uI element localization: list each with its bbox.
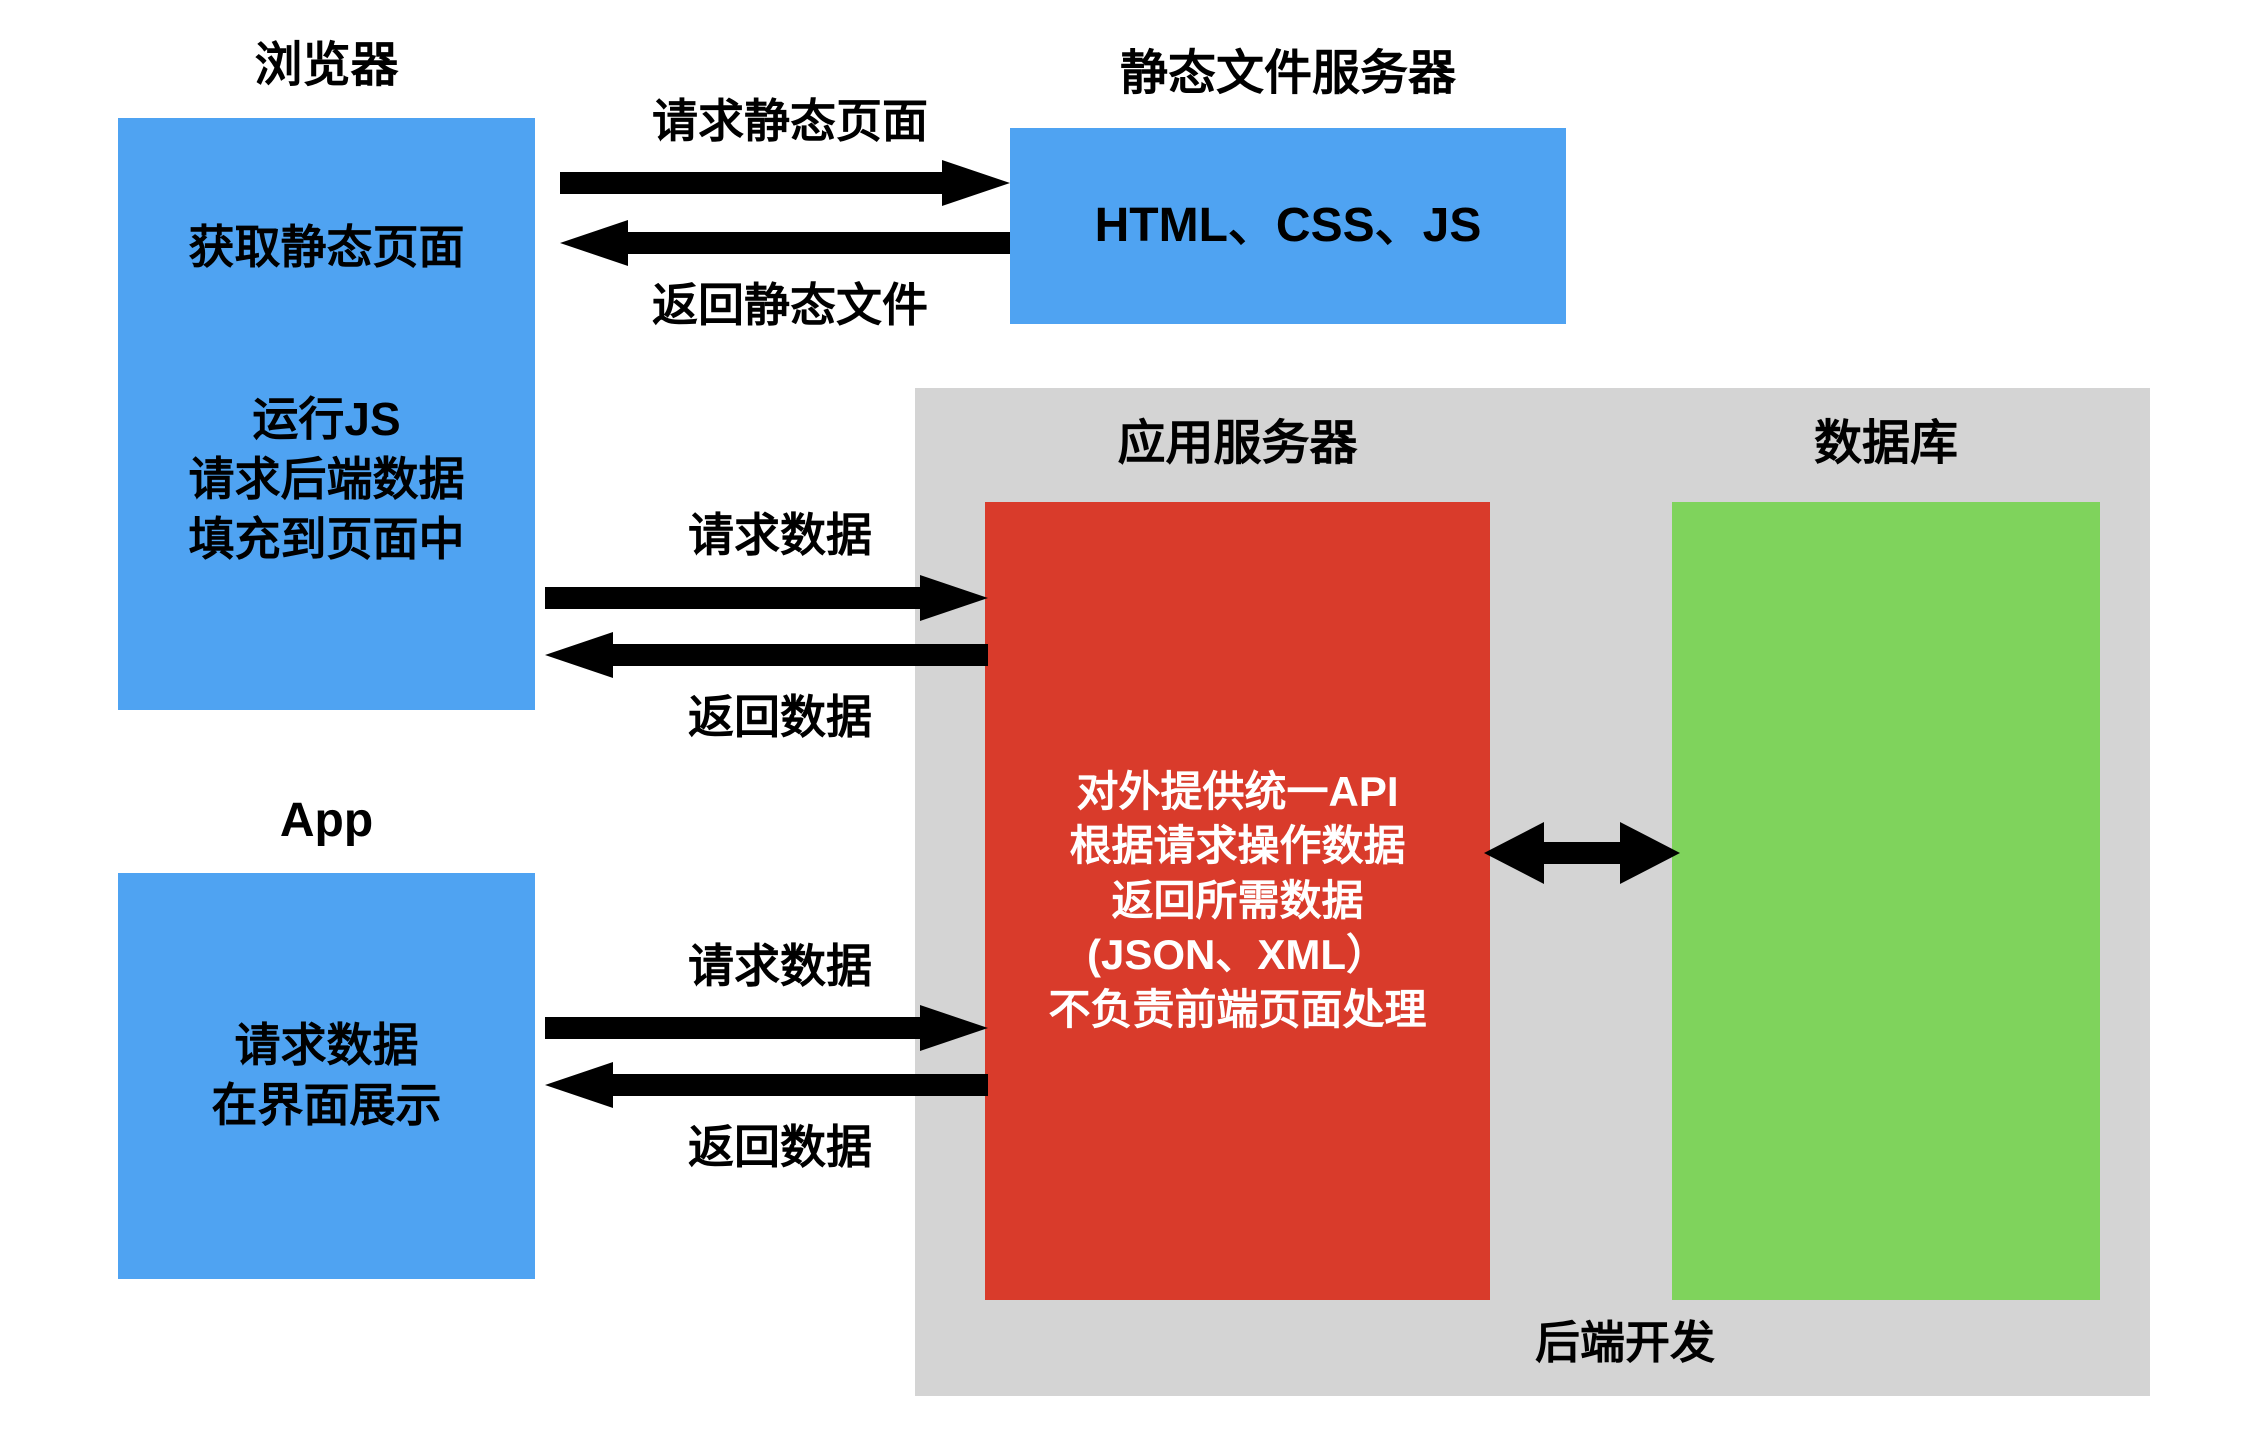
arrow-label-browser-data-request: 请求数据: [560, 512, 1000, 558]
arrow-head-left: [545, 632, 613, 678]
arrow-head-left: [560, 220, 628, 266]
static-server-caption: 静态文件服务器: [1010, 50, 1566, 98]
diagram-canvas: 后端开发 浏览器 获取静态页面 运行JS 请求后端数据 填充到页面中 静态文件服…: [0, 0, 2262, 1448]
app-server-box-text: 对外提供统一API 根据请求操作数据 返回所需数据 (JSON、XML） 不负责…: [1044, 765, 1430, 1038]
arrow-shaft: [613, 644, 988, 666]
app-server-caption: 应用服务器: [985, 420, 1490, 468]
arrow-label-app-data-response: 返回数据: [560, 1124, 1000, 1170]
arrow-label-browser-data-response: 返回数据: [560, 694, 1000, 740]
arrow-head-left: [545, 1062, 613, 1108]
arrow-shaft: [560, 172, 952, 194]
backend-group-label: 后端开发: [1475, 1320, 1775, 1365]
arrow-shaft: [613, 1074, 988, 1096]
arrow-shaft: [545, 1017, 930, 1039]
arrow-server-database-bidirectional: [1484, 822, 1680, 884]
browser-box[interactable]: 获取静态页面 运行JS 请求后端数据 填充到页面中: [118, 118, 535, 710]
arrow-app-data-request: [545, 1005, 988, 1051]
arrow-head-right: [942, 160, 1010, 206]
app-caption: App: [118, 797, 535, 845]
static-server-box-text: HTML、CSS、JS: [1095, 195, 1482, 257]
arrow-static-request: [560, 160, 1010, 206]
browser-box-line-2: 运行JS 请求后端数据 填充到页面中: [118, 390, 535, 569]
arrow-shaft: [545, 587, 930, 609]
arrow-label-static-response: 返回静态文件: [560, 282, 1020, 328]
arrow-browser-data-response: [545, 632, 988, 678]
arrow-head-right: [1620, 822, 1680, 884]
app-server-box[interactable]: 对外提供统一API 根据请求操作数据 返回所需数据 (JSON、XML） 不负责…: [985, 502, 1490, 1300]
arrow-static-response: [560, 220, 1010, 266]
arrow-shaft: [628, 232, 1010, 254]
database-caption: 数据库: [1672, 420, 2100, 468]
arrow-label-app-data-request: 请求数据: [560, 943, 1000, 989]
arrow-shaft: [1540, 842, 1624, 864]
app-box-text: 请求数据 在界面展示: [212, 1016, 442, 1136]
arrow-head-right: [920, 1005, 988, 1051]
arrow-browser-data-request: [545, 575, 988, 621]
arrow-label-static-request: 请求静态页面: [560, 98, 1020, 144]
arrow-head-left: [1484, 822, 1544, 884]
app-box[interactable]: 请求数据 在界面展示: [118, 873, 535, 1279]
static-server-box[interactable]: HTML、CSS、JS: [1010, 128, 1566, 324]
browser-caption: 浏览器: [118, 42, 535, 90]
browser-box-line-1: 获取静态页面: [118, 218, 535, 278]
database-box[interactable]: [1672, 502, 2100, 1300]
arrow-head-right: [920, 575, 988, 621]
arrow-app-data-response: [545, 1062, 988, 1108]
